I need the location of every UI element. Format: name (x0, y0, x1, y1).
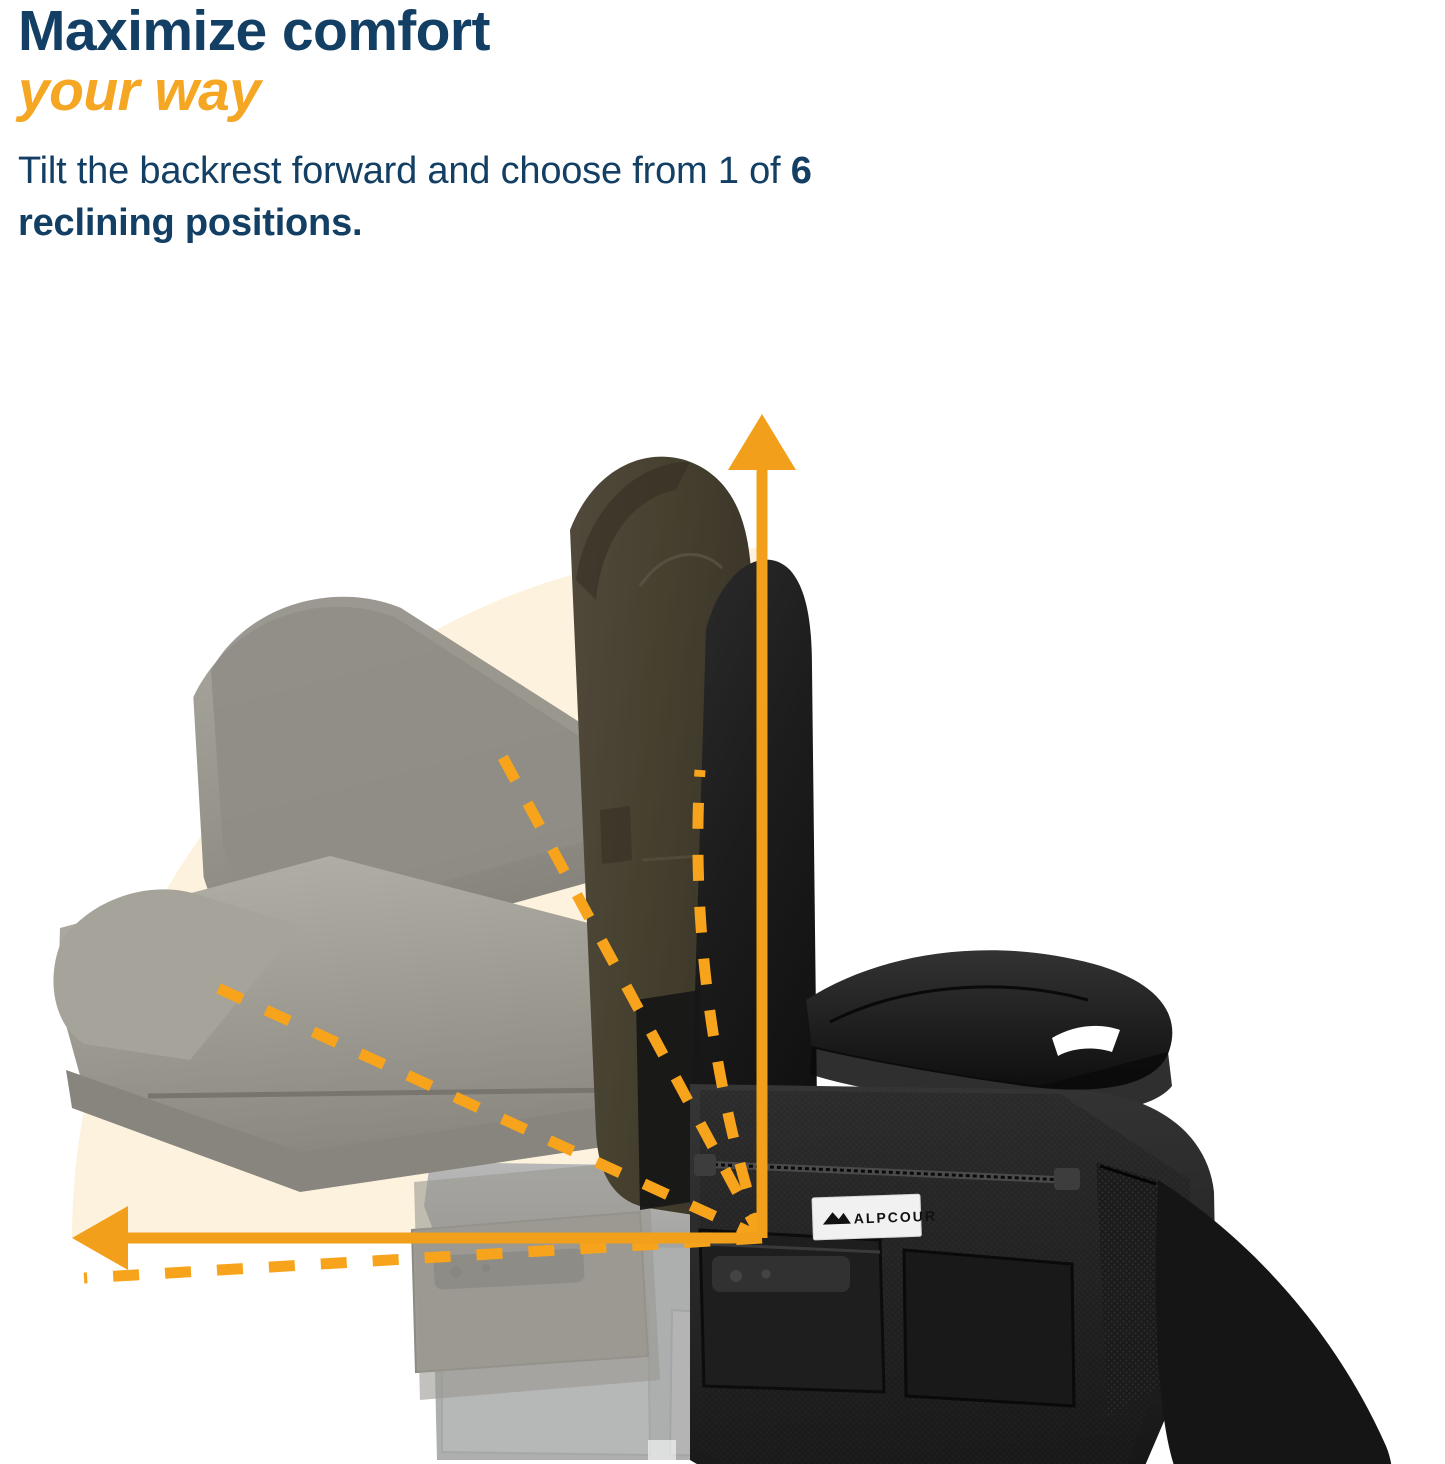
annotation-overlay (0, 300, 1445, 1464)
subcopy-lead: Tilt the backrest forward and choose fro… (18, 150, 791, 192)
dash-ray-1 (84, 1238, 762, 1278)
product-feature-card: Maximize comfort your way Tilt the backr… (0, 0, 1445, 1464)
recline-dash-rays (84, 752, 762, 1278)
subcopy-text: Tilt the backrest forward and choose fro… (18, 145, 918, 250)
vertical-axis-arrow (728, 414, 796, 1238)
dash-ray-2 (196, 978, 762, 1238)
dash-ray-3 (500, 752, 762, 1238)
recline-diagram: ALPCOUR (0, 300, 1445, 1464)
marketing-copy-block: Maximize comfort your way Tilt the backr… (18, 2, 918, 250)
headline-accent: your way (18, 61, 918, 123)
horizontal-axis-arrow (72, 1206, 762, 1270)
headline-primary: Maximize comfort (18, 2, 918, 61)
